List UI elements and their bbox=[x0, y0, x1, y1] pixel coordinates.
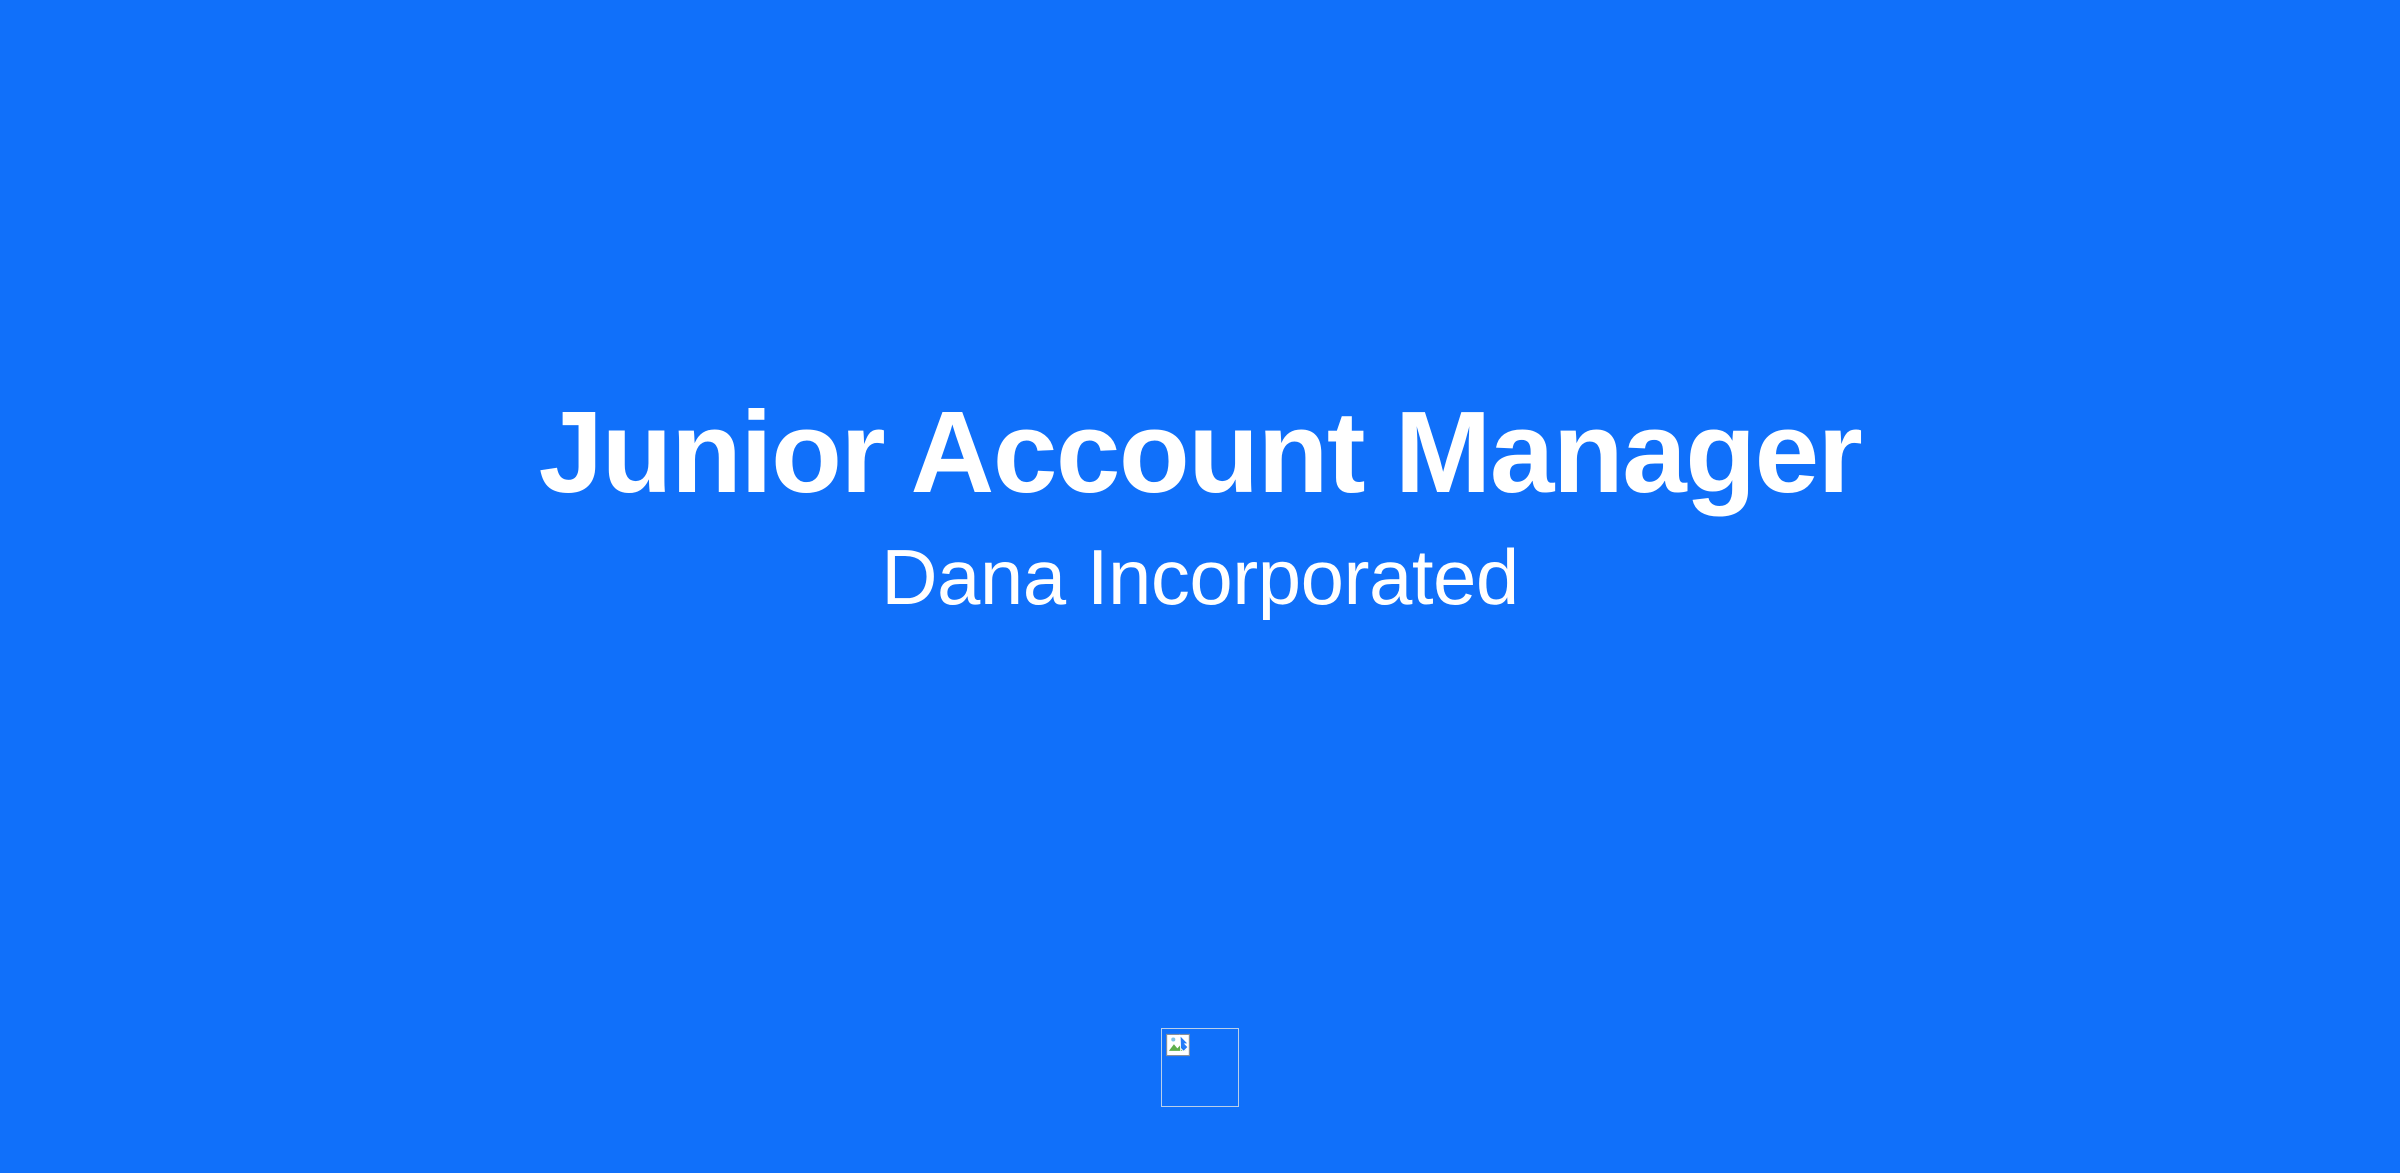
company-name: Dana Incorporated bbox=[881, 538, 1519, 616]
broken-image-icon bbox=[1165, 1032, 1191, 1058]
job-posting-card: Junior Account Manager Dana Incorporated bbox=[0, 0, 2400, 1173]
company-logo-slot bbox=[1161, 1028, 1239, 1107]
broken-image-placeholder bbox=[1161, 1028, 1239, 1107]
page-title: Junior Account Manager bbox=[539, 394, 1862, 510]
hero-block: Junior Account Manager Dana Incorporated bbox=[0, 0, 2400, 1010]
